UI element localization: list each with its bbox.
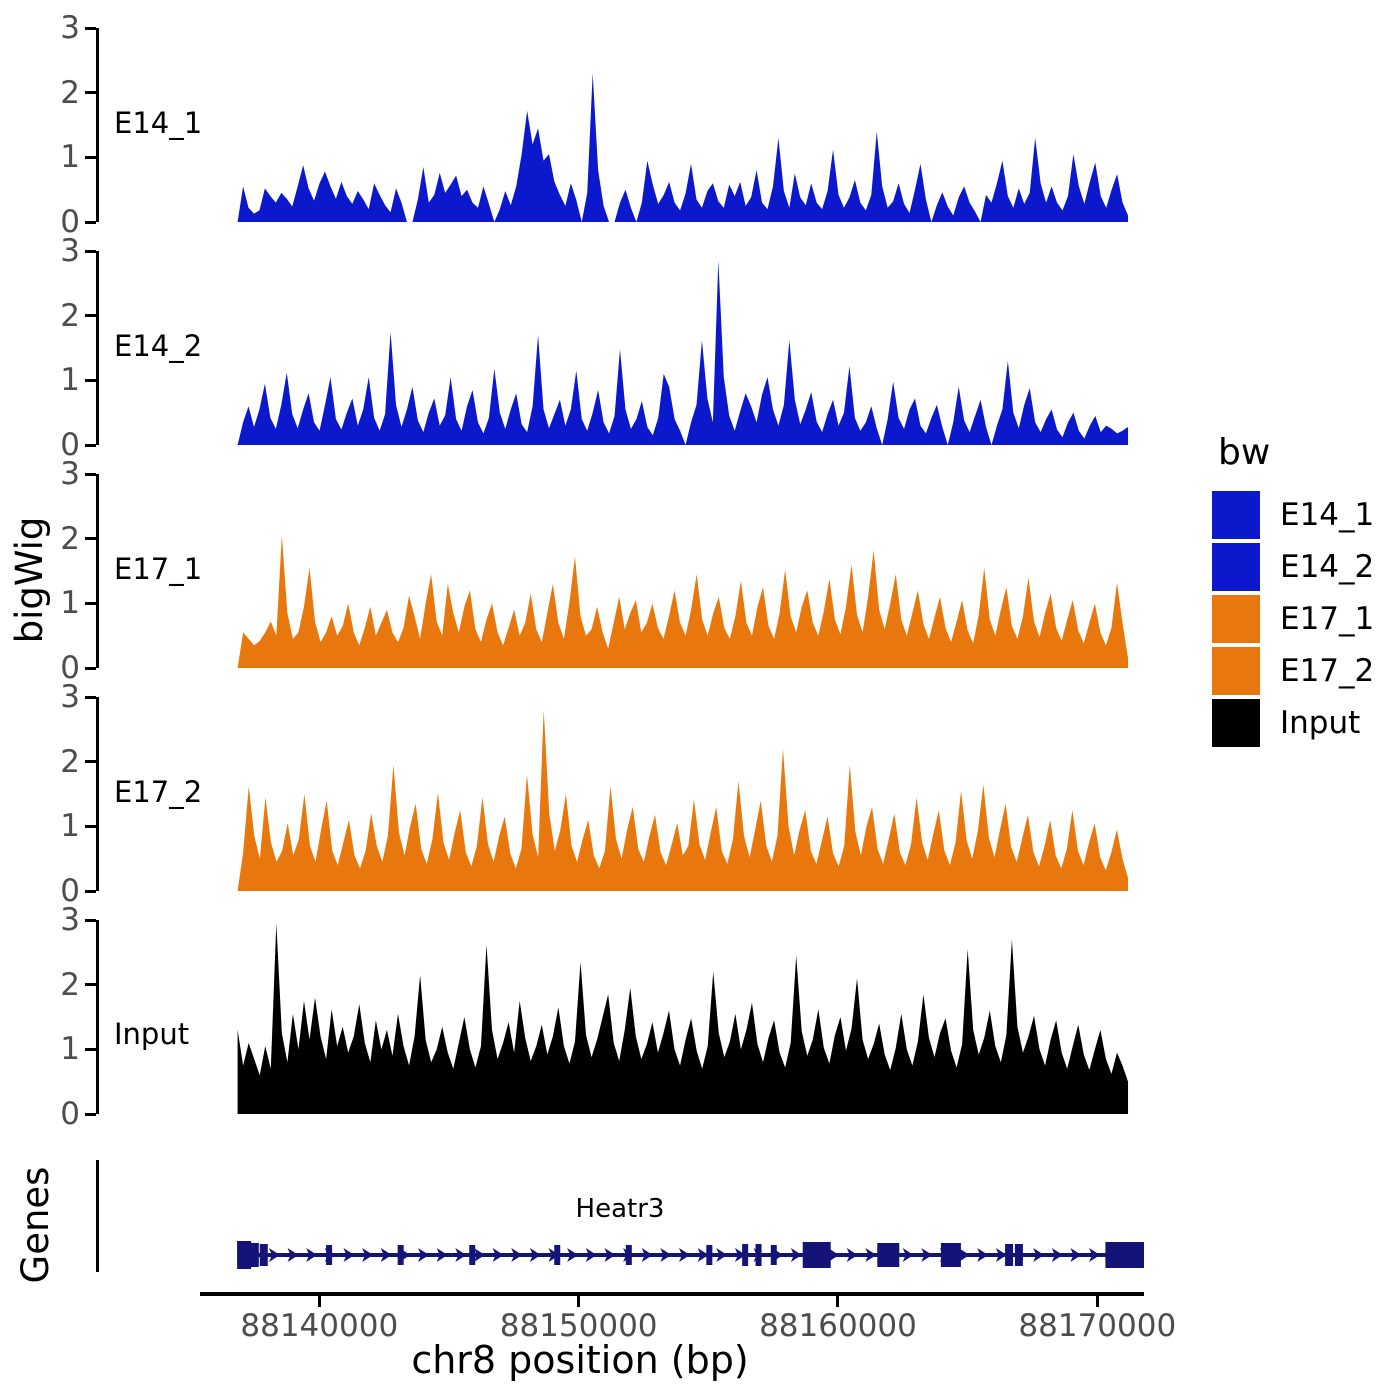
y-tick bbox=[85, 27, 96, 30]
y-tick bbox=[85, 919, 96, 922]
y-tick-label: 1 bbox=[60, 139, 80, 175]
y-tick-label: 2 bbox=[60, 744, 80, 780]
legend-item-label: E17_2 bbox=[1280, 653, 1374, 689]
signal-panel-e17_2: 0123E17_2 bbox=[96, 697, 1144, 891]
gene-model-area[interactable] bbox=[99, 1160, 1144, 1272]
x-tick bbox=[318, 1296, 321, 1307]
genes-axis-title: Genes bbox=[16, 1145, 56, 1305]
signal-panel-e14_2: 0123E14_2 bbox=[96, 251, 1144, 445]
y-tick-label: 3 bbox=[60, 679, 80, 715]
x-axis-title: chr8 position (bp) bbox=[0, 1338, 1160, 1382]
legend-item-e14_2[interactable]: E14_2 bbox=[1212, 543, 1392, 591]
legend-items: E14_1E14_2E17_1E17_2Input bbox=[1212, 491, 1392, 747]
y-tick bbox=[85, 156, 96, 159]
y-tick-label: 2 bbox=[60, 298, 80, 334]
legend-item-label: Input bbox=[1280, 705, 1360, 741]
legend-swatch-icon bbox=[1212, 543, 1260, 591]
y-tick bbox=[85, 696, 96, 699]
y-tick-label: 3 bbox=[60, 902, 80, 938]
legend-item-label: E14_2 bbox=[1280, 549, 1374, 585]
x-tick bbox=[1096, 1296, 1099, 1307]
x-axis-line bbox=[200, 1292, 1144, 1296]
y-tick bbox=[85, 444, 96, 447]
y-tick bbox=[85, 537, 96, 540]
y-tick bbox=[85, 1048, 96, 1051]
legend-swatch-icon bbox=[1212, 491, 1260, 539]
y-tick bbox=[85, 314, 96, 317]
legend-item-e14_1[interactable]: E14_1 bbox=[1212, 491, 1392, 539]
y-tick bbox=[85, 91, 96, 94]
legend-item-e17_1[interactable]: E17_1 bbox=[1212, 595, 1392, 643]
y-axis-title: bigWig bbox=[10, 490, 50, 670]
x-tick bbox=[836, 1296, 839, 1307]
legend-title: bw bbox=[1218, 432, 1392, 473]
signal-panel-e14_1: 0123E14_1 bbox=[96, 28, 1144, 222]
y-tick bbox=[85, 379, 96, 382]
y-tick-label: 1 bbox=[60, 585, 80, 621]
y-tick-label: 3 bbox=[60, 233, 80, 269]
x-tick bbox=[577, 1296, 580, 1307]
y-tick-label: 2 bbox=[60, 967, 80, 1003]
y-tick bbox=[85, 473, 96, 476]
signal-area-e14_2[interactable] bbox=[99, 251, 1144, 445]
y-tick-label: 1 bbox=[60, 808, 80, 844]
signal-panel-input: 0123Input bbox=[96, 920, 1144, 1114]
y-tick-label: 3 bbox=[60, 456, 80, 492]
y-tick-label: 2 bbox=[60, 75, 80, 111]
legend-swatch-icon bbox=[1212, 595, 1260, 643]
gene-track-panel: Heatr3 bbox=[96, 1160, 1144, 1300]
signal-area-e14_1[interactable] bbox=[99, 28, 1144, 222]
legend-item-label: E14_1 bbox=[1280, 497, 1374, 533]
y-tick-label: 3 bbox=[60, 10, 80, 46]
legend-swatch-icon bbox=[1212, 699, 1260, 747]
y-tick bbox=[85, 825, 96, 828]
y-tick bbox=[85, 602, 96, 605]
signal-area-input[interactable] bbox=[99, 920, 1144, 1114]
y-tick-label: 2 bbox=[60, 521, 80, 557]
y-tick bbox=[85, 983, 96, 986]
signal-area-e17_1[interactable] bbox=[99, 474, 1144, 668]
y-tick-label: 1 bbox=[60, 362, 80, 398]
y-tick bbox=[85, 1113, 96, 1116]
signal-panel-e17_1: 0123E17_1 bbox=[96, 474, 1144, 668]
y-tick-label: 0 bbox=[60, 1096, 80, 1132]
legend-item-input[interactable]: Input bbox=[1212, 699, 1392, 747]
y-tick bbox=[85, 221, 96, 224]
legend-swatch-icon bbox=[1212, 647, 1260, 695]
legend-item-label: E17_1 bbox=[1280, 601, 1374, 637]
y-tick bbox=[85, 250, 96, 253]
signal-area-e17_2[interactable] bbox=[99, 697, 1144, 891]
y-tick bbox=[85, 667, 96, 670]
y-tick-label: 1 bbox=[60, 1031, 80, 1067]
y-tick bbox=[85, 890, 96, 893]
legend: bw E14_1E14_2E17_1E17_2Input bbox=[1212, 432, 1392, 751]
figure-root: bigWig Genes 0123E14_10123E14_20123E17_1… bbox=[0, 0, 1400, 1400]
y-tick bbox=[85, 760, 96, 763]
legend-item-e17_2[interactable]: E17_2 bbox=[1212, 647, 1392, 695]
